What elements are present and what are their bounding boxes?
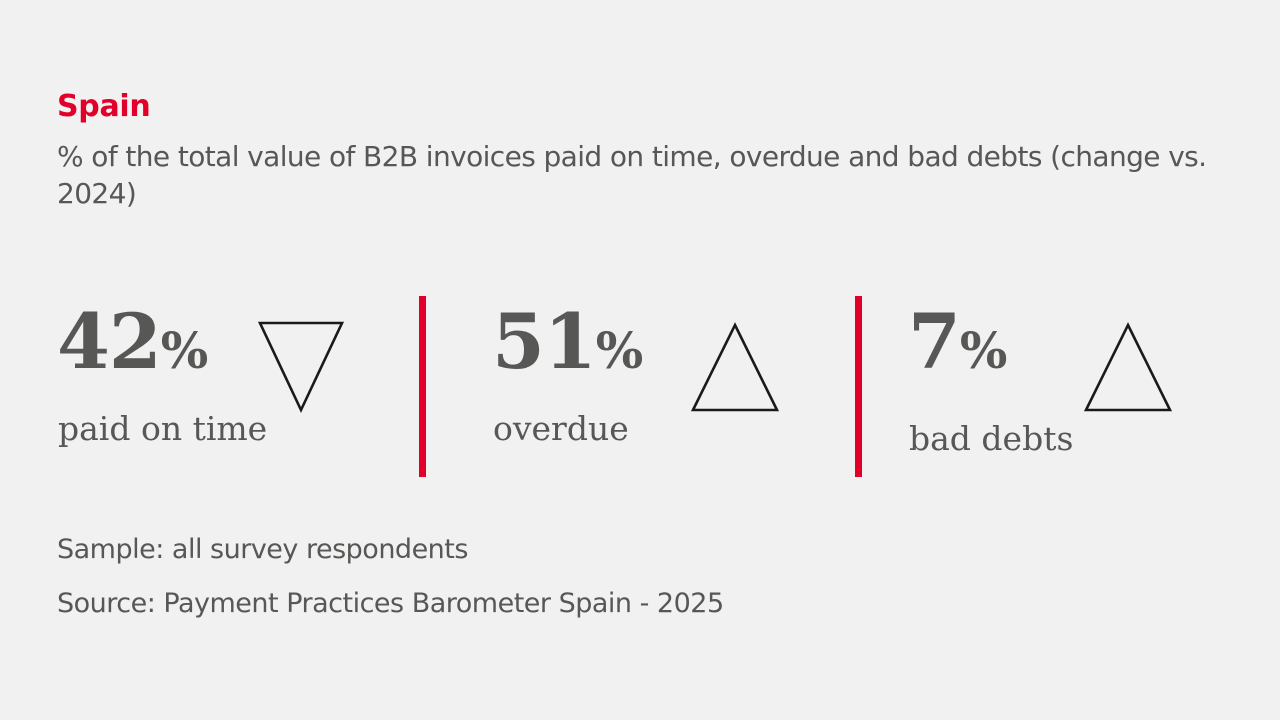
- header: Spain % of the total value of B2B invoic…: [57, 92, 1217, 213]
- stat-block-paid-on-time: 42% paid on time: [57, 290, 402, 490]
- triangle-up-icon: [690, 320, 780, 414]
- stat-value-bad-debts: 7%: [908, 304, 1006, 380]
- stat-value-paid-on-time: 42%: [57, 304, 207, 380]
- page-subtitle: % of the total value of B2B invoices pai…: [57, 122, 1217, 213]
- infographic-canvas: Spain % of the total value of B2B invoic…: [0, 0, 1280, 720]
- stat-label-bad-debts: bad debts: [909, 422, 1073, 455]
- percent-sign: %: [596, 321, 643, 380]
- triangle-up-icon: [1083, 320, 1173, 414]
- stat-number: 42: [57, 297, 161, 386]
- source-note: Source: Payment Practices Barometer Spai…: [57, 563, 1157, 617]
- divider-red-1: [419, 296, 426, 477]
- stat-label-paid-on-time: paid on time: [58, 412, 267, 445]
- stat-block-bad-debts: 7% bad debts: [908, 290, 1248, 490]
- percent-sign: %: [960, 321, 1007, 380]
- triangle-down-icon: [257, 320, 345, 414]
- stat-block-overdue: 51% overdue: [492, 290, 837, 490]
- divider-red-2: [855, 296, 862, 477]
- percent-sign: %: [161, 321, 208, 380]
- stat-number: 7: [908, 297, 960, 386]
- sample-note: Sample: all survey respondents: [57, 536, 1157, 563]
- stat-label-overdue: overdue: [493, 412, 629, 445]
- stat-number: 51: [492, 297, 596, 386]
- page-title: Spain: [57, 92, 1217, 122]
- statistics-band: 42% paid on time 51% overdue: [0, 290, 1280, 490]
- stat-value-overdue: 51%: [492, 304, 642, 380]
- footer-notes: Sample: all survey respondents Source: P…: [57, 536, 1157, 617]
